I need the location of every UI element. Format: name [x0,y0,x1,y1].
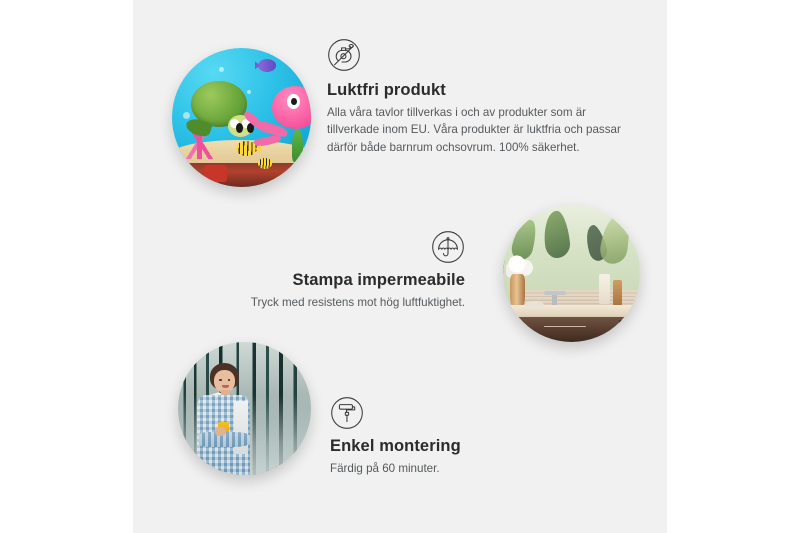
feature-title: Luktfri produkt [327,80,639,101]
installer-scene [178,342,311,475]
feature-description: Tryck med resistens mot hög luftfuktighe… [180,294,465,312]
purple-fish-icon [258,59,276,72]
bathroom-scene [503,205,640,342]
bubble-icon [183,112,190,119]
feature-odor-free: Luktfri produkt Alla våra tavlor tillver… [327,38,639,156]
octopus-eye [287,94,300,109]
bubble-icon [247,90,251,94]
gold-vase [510,274,525,310]
leaf-shape [598,211,633,265]
feature-title: Enkel montering [330,436,630,457]
underwater-cartoon-image [172,48,311,187]
small-fish-icon [258,158,272,169]
woman-smile [222,385,229,388]
seaweed-icon [292,129,303,162]
feature-waterproof-print: Stampa impermeabile Tryck med resistens … [180,230,465,311]
feature-easy-installation: Enkel montering Färdig på 60 minuter. [330,396,630,477]
feature-description: Färdig på 60 minuter. [330,460,630,478]
infographic-page: Luktfri produkt Alla våra tavlor tillver… [0,0,800,533]
leaf-shape [542,210,571,259]
woman-hand [215,427,226,436]
underwater-scene [172,48,311,187]
umbrella-icon [431,230,465,264]
installer-forest-image [178,342,311,475]
paint-roller-icon [330,396,364,430]
feature-title: Stampa impermeabile [180,270,465,291]
wooden-vanity-cabinet [517,317,640,342]
feature-description: Alla våra tavlor tillverkas i och av pro… [327,104,627,157]
bathroom-wallpaper-image [503,205,640,342]
soap-bottle [599,274,610,304]
candle-object [613,280,623,306]
seabed-strip [180,163,311,187]
no-fragrance-icon [327,38,361,72]
turtle-eye [236,123,243,133]
